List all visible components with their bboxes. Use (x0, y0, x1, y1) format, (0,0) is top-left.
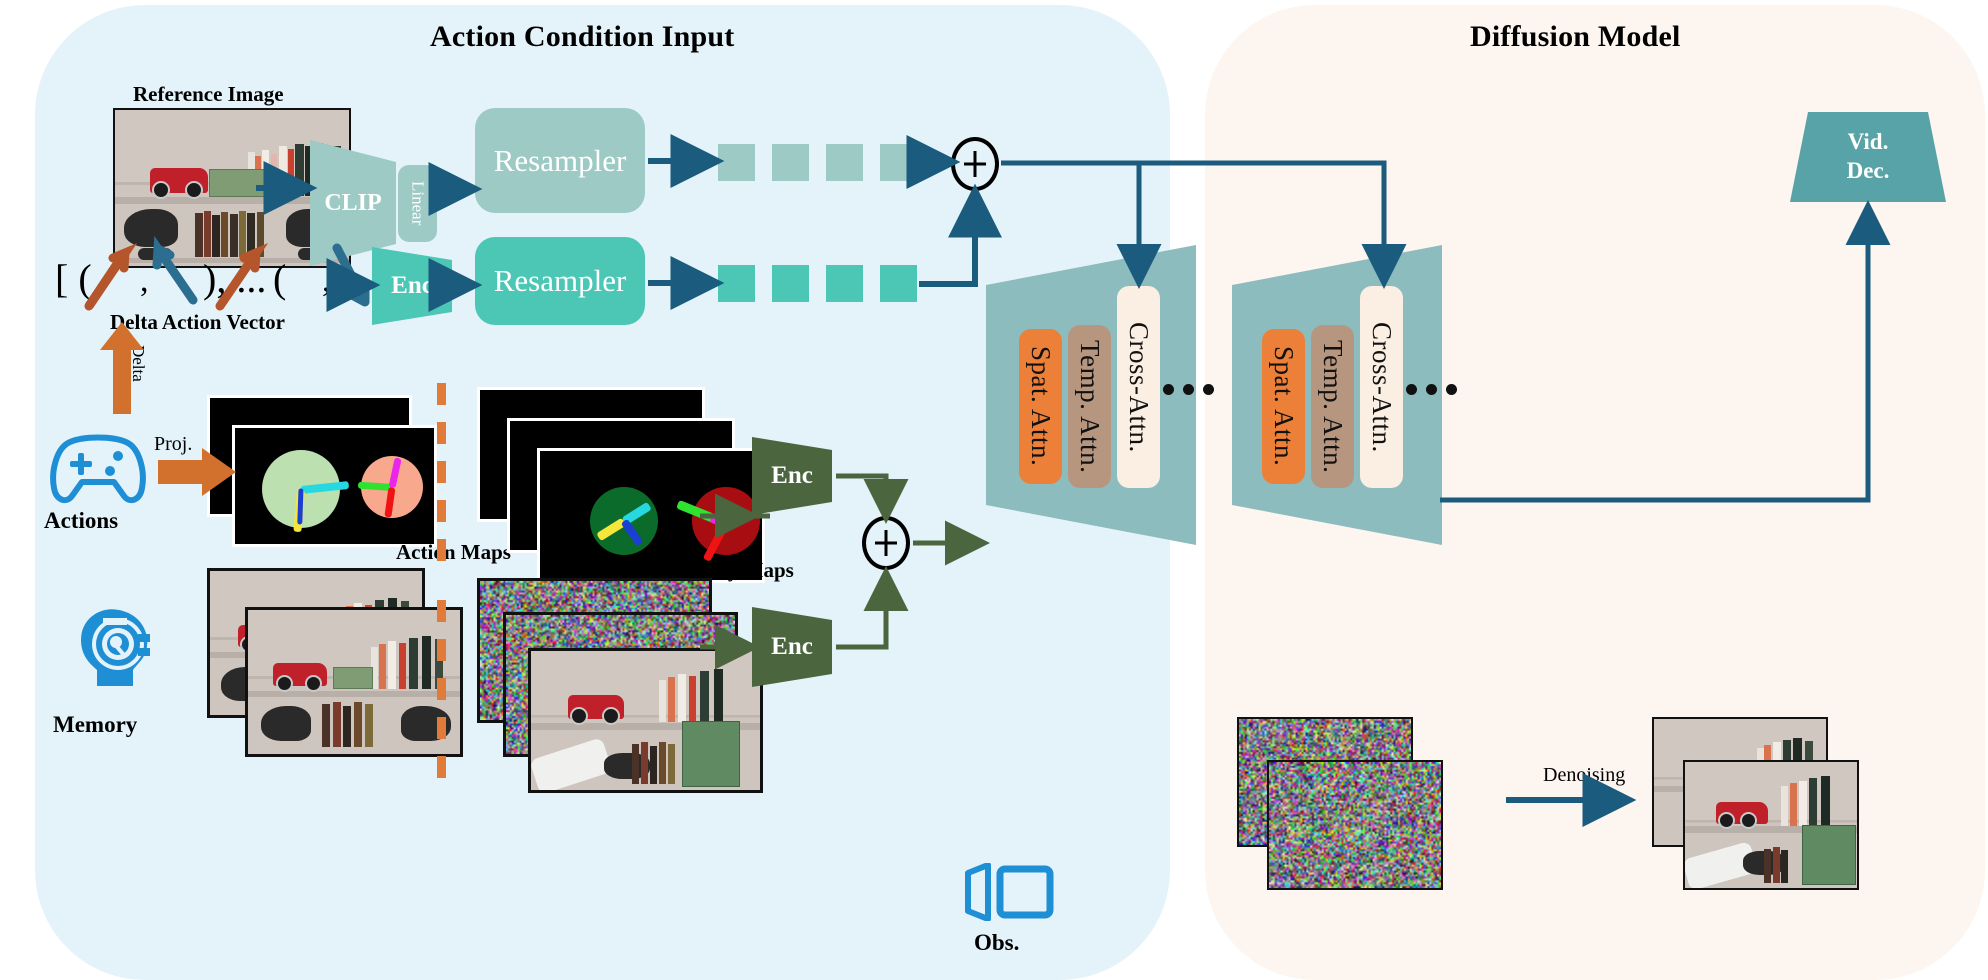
vector-comma-1: , (140, 262, 149, 300)
up-spatial-attention-bar: Spat. Attn. (1262, 329, 1305, 484)
action-token-2 (772, 265, 809, 302)
label-action-maps: Action Maps (396, 540, 511, 565)
vector-bracket-open-2: ( (273, 255, 286, 302)
panel-title-diffusion-model: Diffusion Model (1470, 20, 1681, 54)
image-token-3 (826, 144, 863, 181)
action-token-4 (880, 265, 917, 302)
up-temporal-attention-label: Temp. Attn. (1317, 340, 1348, 473)
linear-label: Linear (408, 181, 428, 225)
camera-frustum-icon (962, 863, 1057, 921)
label-memory: Memory (53, 712, 137, 738)
action-map-frame-front (232, 425, 437, 547)
label-delta-action-vector: Delta Action Vector (110, 310, 285, 335)
panel-title-action-condition-input: Action Condition Input (430, 20, 735, 54)
action-token-1 (718, 265, 755, 302)
memory-frame-front (245, 607, 463, 757)
label-reference-image: Reference Image (133, 82, 284, 107)
resampler-action-block: Resampler (475, 237, 645, 325)
up-cross-attention-label: Cross-Attn. (1366, 322, 1397, 453)
label-obs: Obs. (974, 930, 1019, 956)
down-cross-attention-label: Cross-Attn. (1123, 322, 1154, 453)
action-token-3 (826, 265, 863, 302)
video-decoder-block: Vid. Dec. (1790, 112, 1946, 202)
resampler-action-label: Resampler (494, 263, 627, 299)
denoise-output-frame-front (1683, 760, 1859, 890)
down-temporal-attention-label: Temp. Attn. (1074, 340, 1105, 473)
divider-action-maps (437, 383, 446, 563)
denoise-input-frame-front (1267, 760, 1443, 890)
label-delta: Delta (128, 345, 148, 382)
down-temporal-attention-bar: Temp. Attn. (1068, 325, 1111, 488)
raymap-encoder-block: Enc (752, 437, 832, 515)
up-block-ellipsis (1406, 384, 1457, 395)
diagram-canvas: Action Condition Input Diffusion Model R… (0, 0, 1988, 980)
obs-encoder-block: Enc (752, 607, 832, 687)
up-temporal-attention-bar: Temp. Attn. (1311, 325, 1354, 488)
up-cross-attention-bar: Cross-Attn. (1360, 286, 1403, 488)
action-encoder-block: Enc (372, 247, 452, 325)
vector-close-1: ), ... (203, 255, 266, 302)
sum-operator-latent (862, 516, 910, 570)
label-proj: Proj. (154, 433, 192, 456)
up-spatial-attention-label: Spat. Attn. (1268, 346, 1299, 466)
down-block-ellipsis (1163, 384, 1214, 395)
gamepad-icon (48, 432, 148, 510)
vector-comma-2: , (322, 262, 331, 300)
image-token-4 (880, 144, 917, 181)
resampler-image-label: Resampler (494, 143, 627, 179)
label-denoising: Denoising (1543, 764, 1625, 787)
noisy-obs-frame-front (528, 648, 763, 793)
sum-operator-condition (951, 137, 999, 191)
image-token-2 (772, 144, 809, 181)
memory-brain-icon (63, 600, 158, 695)
resampler-image-block: Resampler (475, 108, 645, 213)
image-token-1 (718, 144, 755, 181)
label-actions: Actions (44, 508, 118, 534)
vector-bracket-open: [ ( (55, 255, 92, 302)
down-cross-attention-bar: Cross-Attn. (1117, 286, 1160, 488)
down-spatial-attention-label: Spat. Attn. (1025, 346, 1056, 466)
divider-memory-obs (437, 600, 446, 790)
linear-projection-block: Linear (398, 165, 437, 242)
down-spatial-attention-bar: Spat. Attn. (1019, 329, 1062, 484)
